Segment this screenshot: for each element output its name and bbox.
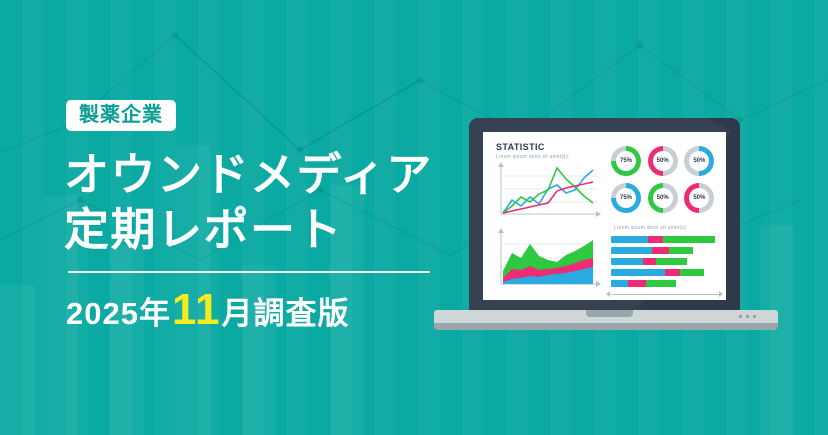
title-line-2: 定期レポート	[64, 204, 343, 255]
headline-block: 製薬企業 オウンドメディア定期レポート 2025年11月調査版	[0, 0, 470, 435]
bar-row	[611, 269, 719, 276]
bar-row	[611, 280, 719, 287]
title-line-1: オウンドメディア	[64, 149, 433, 200]
survey-date: 2025年11月調査版	[66, 288, 349, 332]
gauge-item: 50%	[684, 183, 714, 213]
gauge-item: 50%	[648, 146, 678, 176]
page-title: オウンドメディア定期レポート	[64, 148, 433, 258]
gauge-group: 75% 50% 50% 75% 50%	[611, 146, 715, 213]
date-prefix: 2025年	[66, 298, 171, 329]
gauge-value: 75%	[616, 151, 636, 171]
screen-subtitle: Lorem ipsum dolor sit amet(s).	[496, 154, 570, 160]
laptop-screen: STATISTIC Lorem ipsum dolor sit amet(s).	[483, 132, 726, 300]
screen-header: STATISTIC Lorem ipsum dolor sit amet(s).	[496, 142, 570, 160]
bars-caption: Lorem ipsum dolor sit amet(s).	[614, 225, 688, 231]
bar-row	[611, 258, 719, 265]
bar-chart	[611, 236, 719, 299]
line-chart	[493, 162, 605, 222]
laptop-trackpad-notch	[586, 310, 633, 317]
gauge-value: 50%	[653, 151, 673, 171]
bar-row	[611, 236, 719, 243]
date-suffix: 月調査版	[221, 298, 349, 329]
gauge-value: 75%	[616, 188, 636, 208]
title-divider	[68, 271, 430, 273]
category-badge: 製薬企業	[66, 100, 176, 131]
bar-row	[611, 247, 719, 254]
gauge-item: 50%	[648, 183, 678, 213]
gauge-item: 75%	[611, 183, 641, 213]
gauge-item: 50%	[684, 146, 714, 176]
gauge-value: 50%	[653, 188, 673, 208]
date-month-highlight: 11	[172, 288, 221, 332]
area-chart	[493, 228, 605, 294]
screen-title: STATISTIC	[496, 142, 570, 152]
laptop-indicator-dots	[739, 315, 756, 318]
laptop-base-lip	[434, 323, 778, 330]
bar-chart-axis	[611, 291, 719, 299]
laptop-illustration: STATISTIC Lorem ipsum dolor sit amet(s).	[434, 118, 778, 338]
gauge-item: 75%	[611, 146, 641, 176]
report-banner: 製薬企業 オウンドメディア定期レポート 2025年11月調査版 STATISTI…	[0, 0, 828, 435]
